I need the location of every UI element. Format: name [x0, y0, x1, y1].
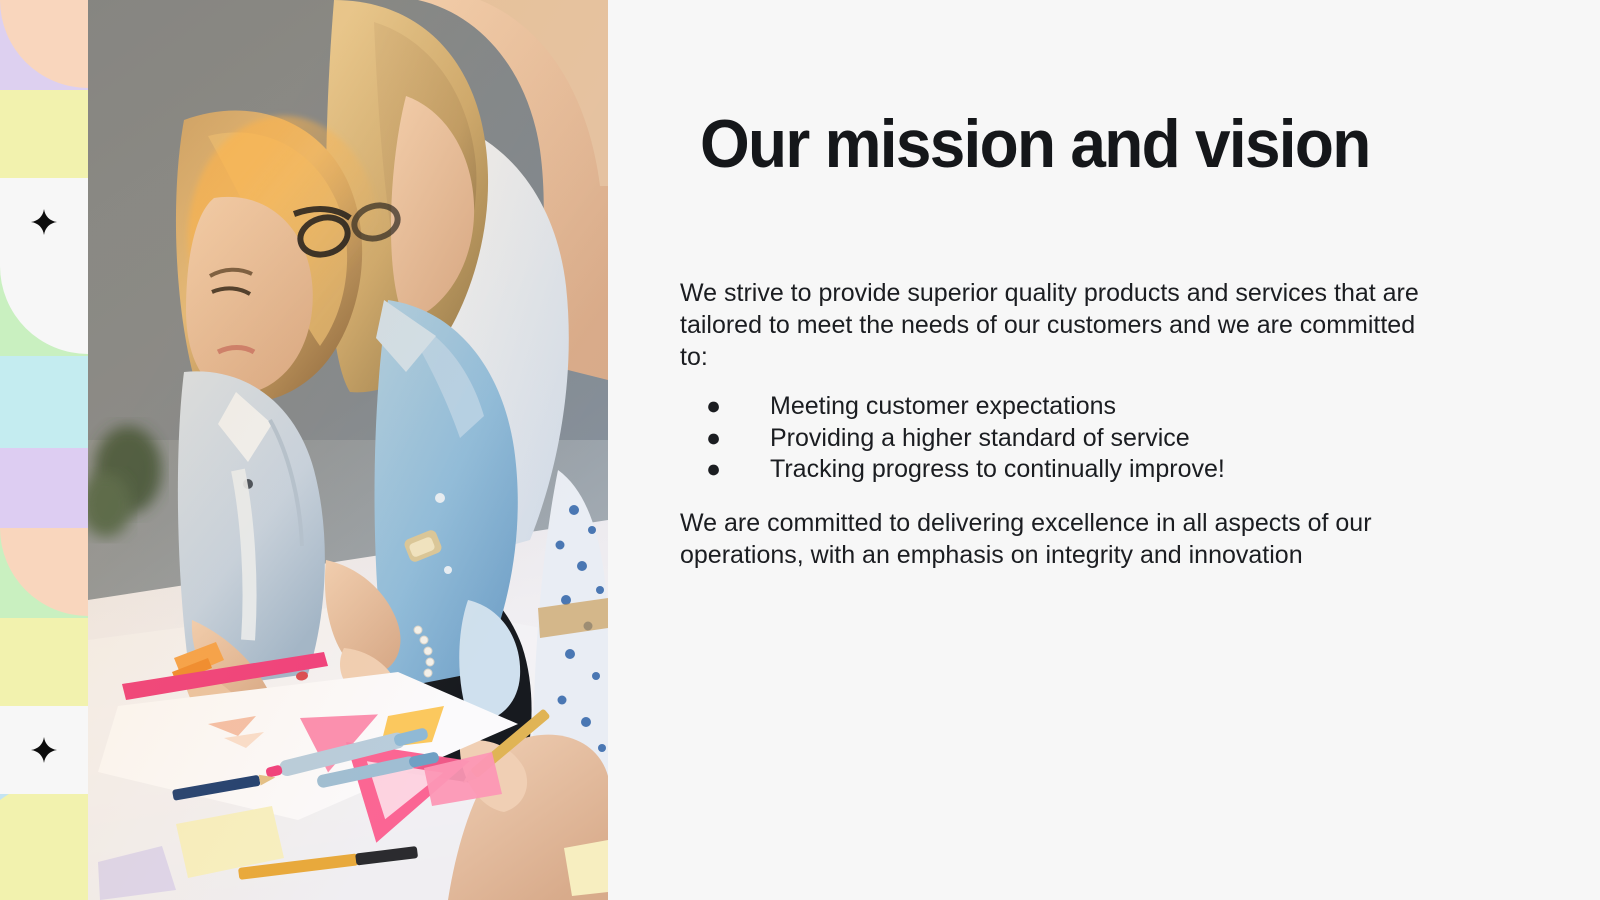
bullet-icon: ●	[706, 423, 721, 455]
list-item: ● Meeting customer expectations	[702, 391, 1440, 423]
team-collaboration-photo	[88, 0, 608, 900]
quarter-circle-peach-2	[0, 528, 88, 616]
decor-block-green-peach-arc	[0, 528, 88, 618]
quarter-circle-white	[0, 266, 88, 354]
intro-paragraph: We strive to provide superior quality pr…	[680, 278, 1440, 373]
page-title: Our mission and vision	[700, 110, 1508, 178]
bullet-icon: ●	[706, 391, 721, 423]
decorative-side-strip	[0, 0, 88, 900]
commitments-list: ● Meeting customer expectations ● Provid…	[680, 391, 1440, 486]
decor-block-green-white-arc	[0, 266, 88, 356]
body-copy: We strive to provide superior quality pr…	[680, 278, 1440, 575]
decor-block-lavender-solid	[0, 448, 88, 528]
quarter-circle-yellow	[0, 794, 88, 900]
decor-block-cyan-solid	[0, 356, 88, 448]
bullet-icon: ●	[706, 454, 721, 486]
decor-block-yellow-solid-2	[0, 618, 88, 706]
diamond-sparkle-icon	[31, 737, 57, 763]
diamond-slot-top	[0, 178, 88, 266]
decor-block-blue-yellow-arc	[0, 794, 88, 900]
list-item: ● Tracking progress to continually impro…	[702, 454, 1440, 486]
diamond-slot-bottom	[0, 706, 88, 794]
photo-illustration	[88, 0, 608, 900]
decor-block-purple-peach-arc	[0, 0, 88, 90]
slide: Our mission and vision We strive to prov…	[0, 0, 1600, 900]
list-item-label: Providing a higher standard of service	[770, 424, 1190, 452]
quarter-circle-peach	[0, 0, 88, 88]
closing-paragraph: We are committed to delivering excellenc…	[680, 508, 1440, 572]
list-item-label: Meeting customer expectations	[770, 392, 1116, 420]
list-item: ● Providing a higher standard of service	[702, 423, 1440, 455]
list-item-label: Tracking progress to continually improve…	[770, 455, 1225, 483]
diamond-sparkle-icon	[31, 209, 57, 235]
decor-block-yellow-solid	[0, 90, 88, 178]
slide-content: Our mission and vision We strive to prov…	[608, 0, 1600, 900]
